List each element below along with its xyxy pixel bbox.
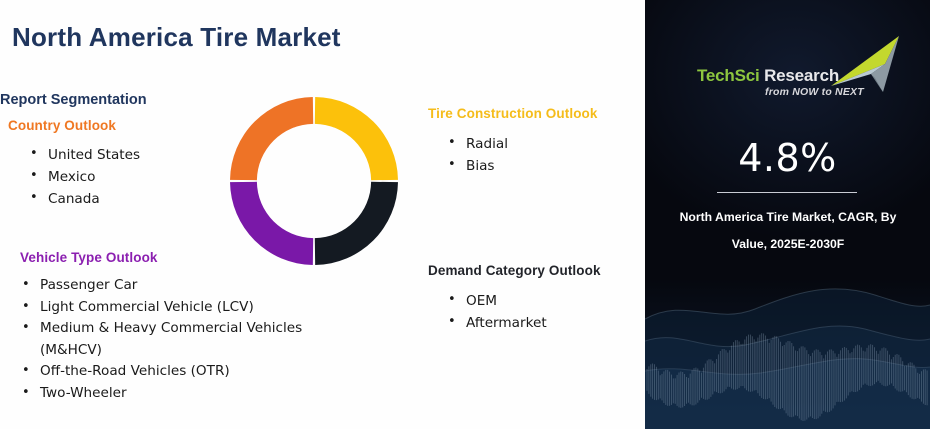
cagr-caption: North America Tire Market, CAGR, By Valu… (669, 204, 907, 258)
list-item: Passenger Car (14, 275, 302, 297)
heading-tire-construction-outlook: Tire Construction Outlook (428, 106, 598, 121)
techsci-research-logo: TechSci Research from NOW to NEXT (645, 28, 930, 94)
donut-chart-svg (228, 95, 400, 267)
list-item: Light Commercial Vehicle (LCV) (14, 297, 302, 319)
page-title: North America Tire Market (12, 22, 341, 53)
list-demand-category-outlook: OEM Aftermarket (440, 290, 547, 334)
cagr-caption-line2: Value, 2025E-2030F (669, 231, 907, 258)
wave-texture (645, 279, 930, 429)
donut-chart (228, 95, 400, 267)
donut-segment (315, 97, 398, 180)
logo-name-techsci: TechSci (697, 66, 760, 85)
list-item: Medium & Heavy Commercial Vehicles (14, 318, 302, 340)
donut-segment (230, 182, 313, 265)
report-segmentation-label: Report Segmentation (0, 92, 147, 108)
list-vehicle-type-outlook: Passenger Car Light Commercial Vehicle (… (14, 275, 302, 404)
list-item: Aftermarket (440, 312, 547, 334)
content-panel: North America Tire Market Report Segment… (0, 0, 645, 429)
list-item: Bias (440, 155, 508, 177)
slide-root: North America Tire Market Report Segment… (0, 0, 930, 429)
list-country-outlook: United States Mexico Canada (22, 144, 140, 210)
brand-panel: TechSci Research from NOW to NEXT 4.8% N… (645, 0, 930, 429)
list-item: Off-the-Road Vehicles (OTR) (14, 361, 302, 383)
heading-vehicle-type-outlook: Vehicle Type Outlook (20, 250, 158, 265)
list-item: United States (22, 144, 140, 166)
list-tire-construction-outlook: Radial Bias (440, 133, 508, 177)
list-item: OEM (440, 290, 547, 312)
donut-segment (230, 97, 313, 180)
cagr-divider (717, 192, 857, 193)
list-item: Radial (440, 133, 508, 155)
list-item: Mexico (22, 166, 140, 188)
list-item: Two-Wheeler (14, 383, 302, 405)
list-item: Canada (22, 188, 140, 210)
heading-demand-category-outlook: Demand Category Outlook (428, 263, 601, 278)
cagr-caption-line1: North America Tire Market, CAGR, By (669, 204, 907, 231)
donut-segment (315, 182, 398, 265)
cagr-value: 4.8% (645, 136, 930, 180)
logo-wordmark: TechSci Research (697, 66, 839, 86)
list-item-continuation: (M&HCV) (14, 340, 302, 362)
logo-tagline: from NOW to NEXT (765, 86, 864, 98)
heading-country-outlook: Country Outlook (8, 118, 116, 133)
logo-name-research: Research (764, 66, 839, 85)
